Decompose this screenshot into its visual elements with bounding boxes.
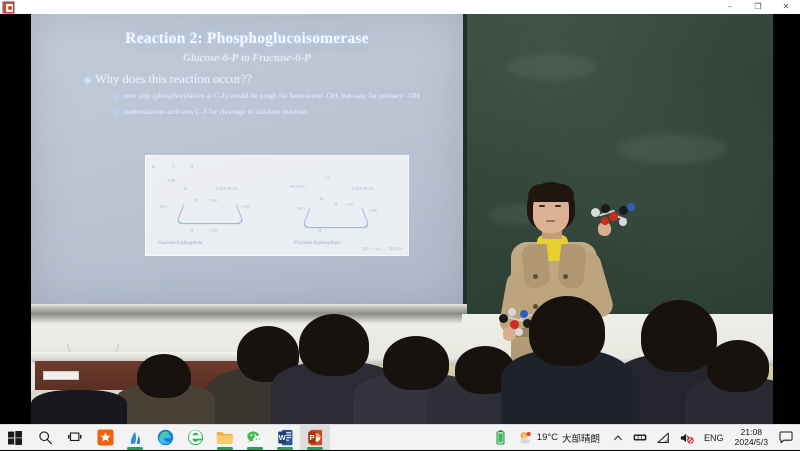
chem-label: H xyxy=(194,198,198,203)
svg-text:P: P xyxy=(309,433,314,442)
chem-label: OH xyxy=(210,198,217,203)
start-button[interactable] xyxy=(0,425,30,451)
slide-sub-bullets: next step (phosphorylation at C-1) would… xyxy=(115,92,445,124)
network-tray-icon[interactable] xyxy=(652,425,675,451)
atom-white xyxy=(619,218,627,226)
powerpoint-icon xyxy=(2,1,15,14)
slide-subtitle: Glucose-6-P to Fructose-6-P xyxy=(31,52,463,64)
atom-red xyxy=(609,212,618,221)
coat-button xyxy=(563,274,568,279)
maximize-button[interactable]: ❐ xyxy=(744,0,772,14)
slide-sub-bullet: next step (phosphorylation at C-1) would… xyxy=(115,92,445,101)
chem-label: O xyxy=(172,164,176,169)
atom-red xyxy=(601,217,609,225)
diamond-bullet-icon xyxy=(84,77,91,84)
chem-label: O xyxy=(326,174,330,179)
sugar-ring-shape xyxy=(302,208,371,228)
chem-label: H xyxy=(152,164,156,169)
minimize-button[interactable]: – xyxy=(716,0,744,14)
slide-bullet-primary: Why does this reaction occur?? xyxy=(85,72,252,87)
weather-widget[interactable]: 19°C 大部晴朗 xyxy=(514,425,608,451)
taskbar-app-buttons: W P xyxy=(0,425,330,451)
running-indicator xyxy=(127,447,143,449)
chem-label: HOH2C xyxy=(290,184,306,189)
presentation-slide: Reaction 2: Phosphoglucoisomerase Glucos… xyxy=(31,14,463,306)
windows-taskbar: W P xyxy=(0,424,800,450)
notification-center-button[interactable] xyxy=(774,425,798,451)
chem-label: OH xyxy=(242,204,249,209)
chem-label: CH2OPO3 xyxy=(216,186,238,191)
svg-text:W: W xyxy=(278,433,286,442)
battery-status-icon[interactable] xyxy=(487,425,514,451)
task-view-icon xyxy=(68,431,83,444)
hardware-tray-icon[interactable] xyxy=(628,425,652,451)
teacher-lapel xyxy=(557,244,588,288)
diamond-bullet-icon xyxy=(114,110,119,115)
teacher-lapel xyxy=(521,244,552,288)
language-indicator[interactable]: ENG xyxy=(699,425,729,451)
wechat-icon xyxy=(246,430,264,446)
student-shoulders xyxy=(31,390,127,424)
search-button[interactable] xyxy=(30,425,60,451)
running-indicator xyxy=(277,447,293,449)
close-button[interactable]: ✕ xyxy=(772,0,800,14)
media-player-window: – ❐ ✕ Reaction 2: Phosphoglucoisomerase … xyxy=(0,0,800,450)
window-controls: – ❐ ✕ xyxy=(716,0,800,14)
atom-blue xyxy=(627,203,635,211)
slide-bullet-primary-text: Why does this reaction occur?? xyxy=(95,72,252,87)
student-head xyxy=(299,314,369,376)
folder-icon xyxy=(216,430,234,446)
volume-tray-icon[interactable] xyxy=(675,425,699,451)
windows-logo-icon xyxy=(8,431,22,445)
atom-white xyxy=(591,208,600,217)
clock[interactable]: 21:08 2024/5/3 xyxy=(729,425,774,451)
student-head xyxy=(383,336,449,390)
chem-label: OH xyxy=(210,228,217,233)
notification-icon xyxy=(779,431,793,444)
wechat-button[interactable] xyxy=(240,425,270,451)
blue-brush-icon xyxy=(127,430,143,446)
fructose-6-phosphate-structure: HOH2C O CH2OPO3 H HO H OH OH H Fructose-… xyxy=(278,156,409,256)
partly-sunny-icon xyxy=(518,431,533,445)
chevron-up-icon xyxy=(613,433,623,443)
clock-date: 2024/5/3 xyxy=(735,438,768,447)
running-indicator xyxy=(247,447,263,449)
video-frame: Reaction 2: Phosphoglucoisomerase Glucos… xyxy=(31,14,773,424)
chem-label: OH xyxy=(168,178,175,183)
chem-label: H xyxy=(190,164,194,169)
chem-label: H xyxy=(318,228,322,233)
running-indicator xyxy=(217,447,233,449)
word-icon: W xyxy=(278,429,293,446)
powerpoint-icon: P xyxy=(308,429,323,446)
file-explorer-button[interactable] xyxy=(210,425,240,451)
chem-label: CH2OPO3 xyxy=(352,186,374,191)
chem-label: H xyxy=(190,228,194,233)
chem-caption: Glucose-6-phosphate xyxy=(158,240,202,246)
chalk-smudge xyxy=(507,54,597,80)
chem-label: HO xyxy=(160,204,167,209)
search-icon xyxy=(38,430,53,445)
edge-icon xyxy=(157,429,174,446)
weather-temperature: 19°C xyxy=(537,432,558,443)
glucose-6-phosphate-structure: H O H OH H CH2OPO3 HO OH H OH H OH xyxy=(146,156,278,256)
speaker-muted-icon xyxy=(680,432,694,444)
security-app-button[interactable] xyxy=(90,425,120,451)
ie-icon xyxy=(187,429,204,446)
chem-label: H xyxy=(184,186,188,191)
slide-title: Reaction 2: Phosphoglucoisomerase xyxy=(31,30,463,48)
student-audience xyxy=(31,294,773,424)
chem-caption: Fructose-6-phosphate xyxy=(294,240,340,246)
task-view-button[interactable] xyxy=(60,425,90,451)
pen-app-button[interactable] xyxy=(120,425,150,451)
running-indicator xyxy=(307,447,323,449)
microsoft-edge-button[interactable] xyxy=(150,425,180,451)
student-head xyxy=(529,296,605,366)
diamond-bullet-icon xyxy=(114,94,119,99)
chem-label: OH xyxy=(346,202,353,207)
sugar-ring-shape xyxy=(176,204,245,224)
student-head xyxy=(641,300,717,372)
chem-label: H xyxy=(334,202,338,207)
chemical-structure-diagram: H O H OH H CH2OPO3 HO OH H OH H OH xyxy=(145,155,409,256)
slide-sub-bullet-text: next step (phosphorylation at C-1) would… xyxy=(124,92,421,101)
weather-condition: 大部晴朗 xyxy=(562,431,600,445)
orange-star-icon xyxy=(97,429,114,446)
slide-sub-bullet-text: isomerization activates C-3 for cleavage… xyxy=(124,108,307,117)
microsoft-word-button[interactable]: W xyxy=(270,425,300,451)
teacher-hair-fringe xyxy=(528,184,574,202)
projection-screen: Reaction 2: Phosphoglucoisomerase Glucos… xyxy=(31,14,463,306)
slide-sub-bullet: isomerization activates C-3 for cleavage… xyxy=(115,108,445,117)
student-head xyxy=(137,354,191,398)
title-bar: – ❐ ✕ xyxy=(0,0,800,14)
hardware-icon xyxy=(633,432,647,443)
show-hidden-icons-button[interactable] xyxy=(608,425,628,451)
system-tray: 19°C 大部晴朗 xyxy=(487,425,800,451)
atom-black xyxy=(601,204,610,213)
internet-explorer-button[interactable] xyxy=(180,425,210,451)
battery-icon xyxy=(496,430,505,445)
chem-footnote: 2H+ + 2e– → NADH xyxy=(362,246,402,251)
wifi-icon xyxy=(657,432,670,444)
molecular-model-raised xyxy=(589,200,637,230)
video-playback-area[interactable]: Reaction 2: Phosphoglucoisomerase Glucos… xyxy=(0,14,800,424)
powerpoint-button[interactable]: P xyxy=(300,425,330,451)
coat-button xyxy=(533,274,538,279)
chem-label: OH xyxy=(370,208,377,213)
chem-label: HO xyxy=(298,206,305,211)
chalk-smudge xyxy=(617,134,727,164)
chem-label: H xyxy=(320,196,324,201)
student-head xyxy=(707,340,769,392)
